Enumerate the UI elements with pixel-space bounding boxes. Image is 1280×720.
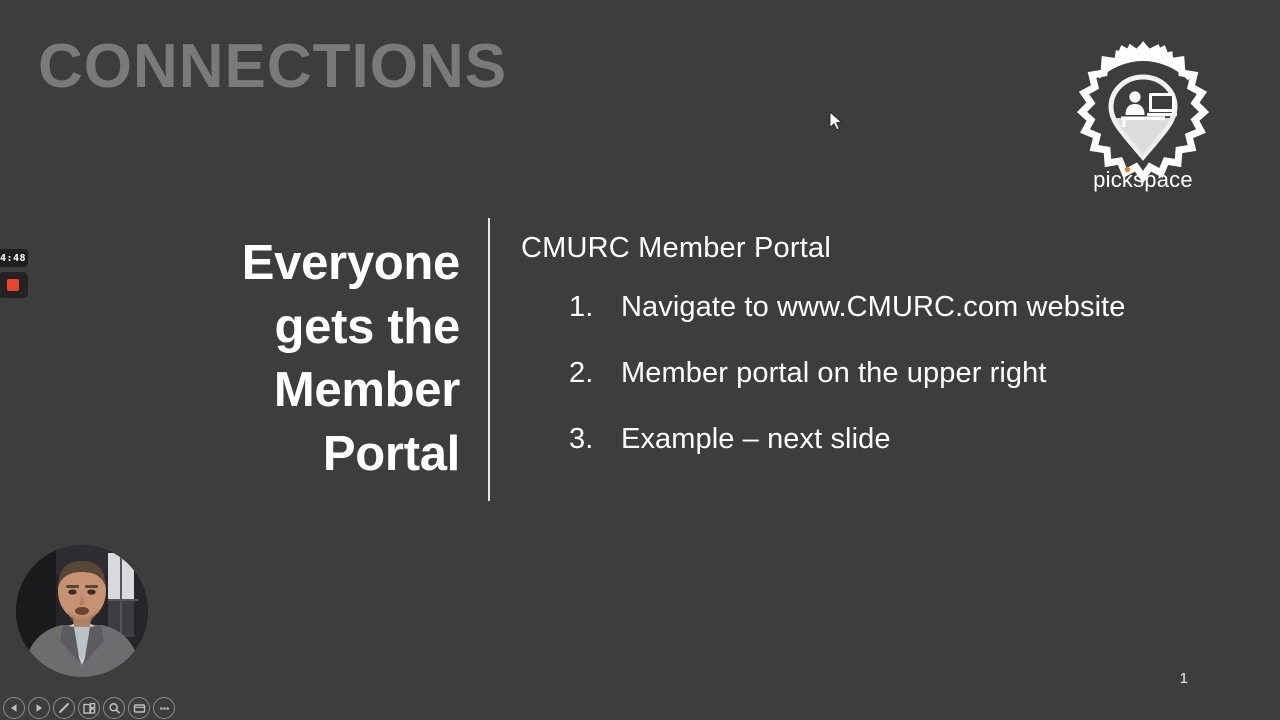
step-number: 2. [569,356,621,391]
ellipsis-icon [158,702,171,715]
step-text: Member portal on the upper right [621,356,1047,391]
list-item: 2. Member portal on the upper right [521,356,1221,391]
steps-list: 1. Navigate to www.CMURC.com website 2. … [521,290,1221,456]
vertical-divider [488,218,490,501]
body-heading: CMURC Member Portal [521,230,1221,266]
stop-recording-button[interactable] [0,272,28,298]
list-item: 3. Example – next slide [521,422,1221,457]
slide-number: 1 [1180,670,1188,687]
rectangle-icon [133,702,146,715]
mouse-pointer [829,111,845,133]
presenter-webcam[interactable] [16,545,148,677]
blank-screen-button[interactable] [128,697,150,719]
step-text: Example – next slide [621,422,891,457]
recording-timer: 4:48 [0,249,28,267]
step-text: Navigate to www.CMURC.com website [621,290,1126,325]
pen-icon [57,701,71,715]
zoom-button[interactable] [103,697,125,719]
list-item: 1. Navigate to www.CMURC.com website [521,290,1221,325]
body-column: CMURC Member Portal 1. Navigate to www.C… [521,230,1221,488]
step-number: 1. [569,290,621,325]
triangle-right-icon [33,702,45,714]
slides-overview-button[interactable] [78,697,100,719]
pickspace-badge-logo: pickspace [1055,35,1231,211]
step-number: 3. [569,422,621,457]
magnifier-icon [108,702,121,715]
more-options-button[interactable] [153,697,175,719]
previous-slide-button[interactable] [3,697,25,719]
presentation-slide: CONNECTIONS [0,0,1280,720]
svg-text:pickspace: pickspace [1093,167,1193,192]
slides-grid-icon [83,702,96,715]
triangle-left-icon [8,702,20,714]
slide-headline: Everyone gets the Member Portal [150,232,460,487]
annotate-pen-button[interactable] [53,697,75,719]
presentation-toolbar[interactable] [3,697,175,719]
next-slide-button[interactable] [28,697,50,719]
stop-square-icon [7,279,19,291]
deck-title: CONNECTIONS [38,36,507,98]
